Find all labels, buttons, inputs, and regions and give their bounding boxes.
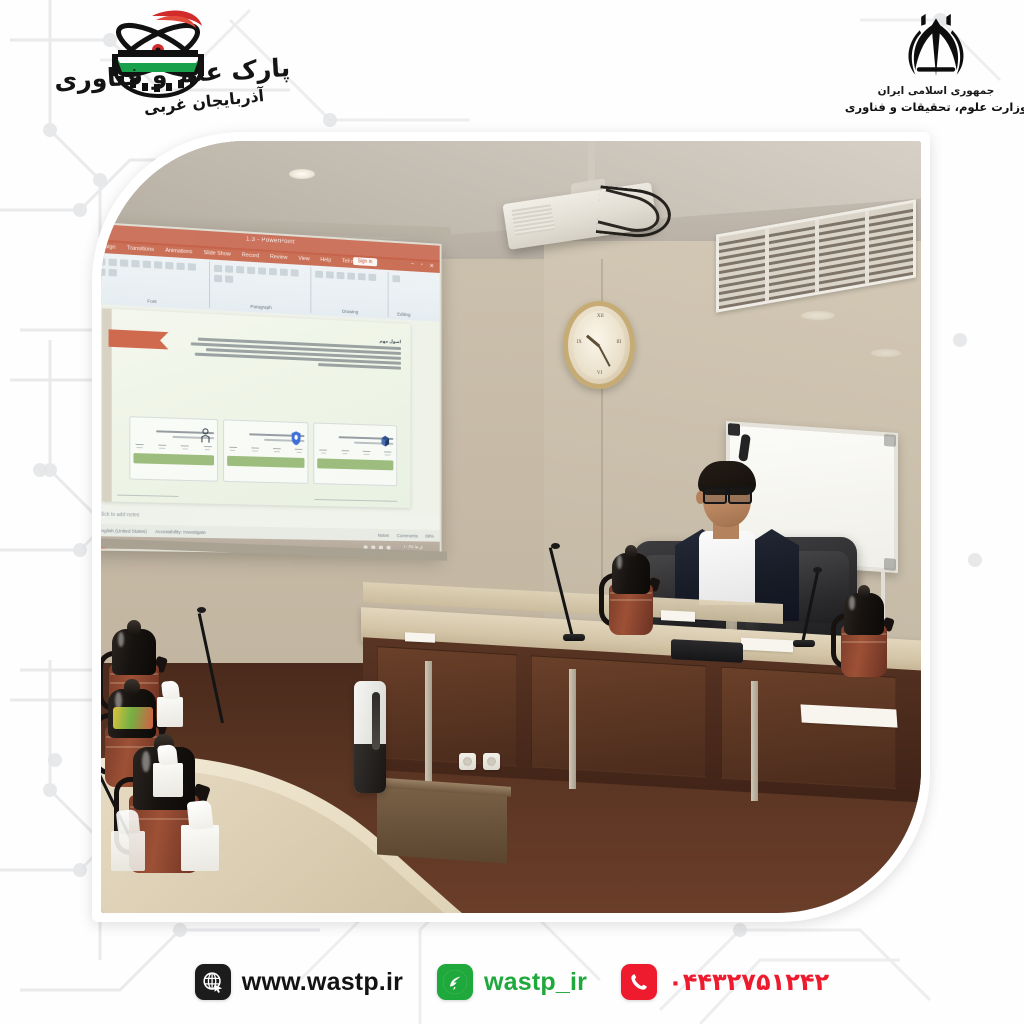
- park-logo: پارک علم و فناوری آذربایجان غربی: [14, 6, 294, 136]
- slide-cards: [129, 416, 397, 486]
- notes-placeholder: Click to add notes: [101, 512, 139, 519]
- status-zoom-level[interactable]: 68%: [425, 533, 434, 538]
- laptop-on-table: [671, 639, 743, 663]
- slide-card-cta[interactable]: [133, 453, 213, 465]
- air-purifier: [354, 681, 386, 793]
- tab-view[interactable]: View: [298, 255, 309, 262]
- eitaa-icon: [437, 964, 473, 1000]
- snack-pack: [113, 707, 153, 729]
- tissue-box: [153, 763, 183, 797]
- phone-label[interactable]: ۰۴۴۳۲۷۵۱۲۴۲: [668, 968, 829, 996]
- ministry-emblem-block: جمهوری اسلامی ایران وزارت علوم، تحقیقات …: [866, 8, 1006, 130]
- status-comments-button[interactable]: Comments: [397, 533, 418, 538]
- tab-slide-show[interactable]: Slide Show: [204, 249, 231, 257]
- person-icon: [200, 428, 211, 444]
- thermos-flask: [841, 593, 887, 677]
- eitaa-item[interactable]: wastp_ir: [437, 964, 587, 1000]
- tissue-box: [181, 825, 219, 871]
- slide-card[interactable]: [223, 419, 309, 484]
- tab-animations[interactable]: Animations: [165, 247, 192, 255]
- photo-card: 1.3 - PowerPoint Design Transitions Anim…: [92, 132, 930, 922]
- eyeglasses-icon: [703, 487, 752, 500]
- tab-review[interactable]: Review: [270, 253, 287, 260]
- analog-wall-clock: XII III VI IX: [563, 301, 635, 389]
- website-item[interactable]: www.wastp.ir: [195, 964, 403, 1000]
- paper-sheet: [661, 610, 695, 622]
- ribbon-group-font: Font: [101, 255, 210, 308]
- table-leg: [751, 681, 758, 801]
- slide-card[interactable]: [314, 422, 398, 486]
- slide-card[interactable]: [129, 416, 217, 482]
- eitaa-label[interactable]: wastp_ir: [484, 968, 587, 997]
- iran-national-emblem-icon: [898, 8, 974, 82]
- window-controls[interactable]: – ▫ ✕: [411, 262, 434, 270]
- microphone: [801, 571, 821, 643]
- status-notes-button[interactable]: Notes: [378, 532, 389, 537]
- slide-body-text: اصول مهم: [189, 329, 401, 372]
- maximize-icon[interactable]: ▫: [421, 262, 423, 269]
- ceiling-downlight: [871, 349, 901, 357]
- phone-item[interactable]: ۰۴۴۳۲۷۵۱۲۴۲: [621, 964, 829, 1000]
- minimize-icon[interactable]: –: [411, 262, 414, 269]
- status-accessibility[interactable]: Accessibility: Investigate: [155, 529, 206, 535]
- sign-in-button[interactable]: Sign in: [353, 257, 377, 266]
- tissue-box: [157, 697, 183, 727]
- close-icon[interactable]: ✕: [429, 263, 434, 270]
- slide-card-cta[interactable]: [318, 459, 394, 471]
- emblem-line-2: وزارت علوم، تحقیقات و فناوری: [845, 100, 1024, 114]
- ribbon-group-editing: Editing: [390, 272, 418, 319]
- microphone: [571, 545, 591, 637]
- side-table: [377, 784, 507, 863]
- phone-icon: [621, 964, 657, 1000]
- powerpoint-document-title: 1.3 - PowerPoint: [246, 236, 295, 245]
- website-label[interactable]: www.wastp.ir: [242, 968, 403, 997]
- emblem-line-1: جمهوری اسلامی ایران: [878, 85, 995, 97]
- wall-socket[interactable]: [483, 753, 500, 770]
- microphone: [221, 611, 241, 723]
- footer-contact-bar: www.wastp.ir wastp_ir ۰۴۴۳۲۷۵۱۲۴۲: [0, 964, 1024, 1000]
- tab-design[interactable]: Design: [101, 243, 116, 250]
- tab-help[interactable]: Help: [320, 257, 331, 264]
- paper-sheet: [405, 632, 435, 643]
- ribbon-group-label: Paragraph: [211, 302, 310, 312]
- ribbon-group-paragraph: Paragraph: [211, 262, 311, 314]
- thermos-flask: [609, 553, 653, 635]
- slide-footer: [117, 494, 397, 502]
- ribbon-group-label: Editing: [390, 311, 418, 317]
- ceiling-downlight: [289, 169, 315, 179]
- shield-icon: [291, 431, 302, 446]
- post-canvas: پارک علم و فناوری آذربایجان غربی جمهوری …: [0, 0, 1024, 1024]
- taskbar-clock[interactable]: ۱۰:۴۵ ق.ظ: [403, 544, 422, 550]
- globe-icon: [195, 964, 231, 1000]
- tab-record[interactable]: Record: [242, 252, 259, 259]
- projection-screen: 1.3 - PowerPoint Design Transitions Anim…: [101, 221, 442, 555]
- slide-card-cta[interactable]: [227, 456, 305, 468]
- tissue-box: [111, 831, 145, 871]
- table-leg: [425, 661, 432, 785]
- ribbon-group-drawing: Drawing: [312, 267, 388, 317]
- whiteboard-marker: [738, 434, 751, 462]
- ribbon-group-label: Drawing: [312, 307, 387, 316]
- wall-socket[interactable]: [459, 753, 476, 770]
- tab-transitions[interactable]: Transitions: [127, 245, 154, 253]
- projected-slide: 1.3 - PowerPoint Design Transitions Anim…: [101, 224, 440, 554]
- status-language[interactable]: English (United States): [101, 528, 147, 534]
- table-leg: [569, 669, 576, 789]
- slide-canvas[interactable]: اصول مهم: [102, 308, 410, 508]
- box-icon: [380, 434, 391, 449]
- ribbon-group-label: Font: [101, 296, 209, 307]
- slide-title-flag: [109, 329, 169, 349]
- event-photo: 1.3 - PowerPoint Design Transitions Anim…: [101, 141, 921, 913]
- ceiling-downlight: [801, 311, 835, 320]
